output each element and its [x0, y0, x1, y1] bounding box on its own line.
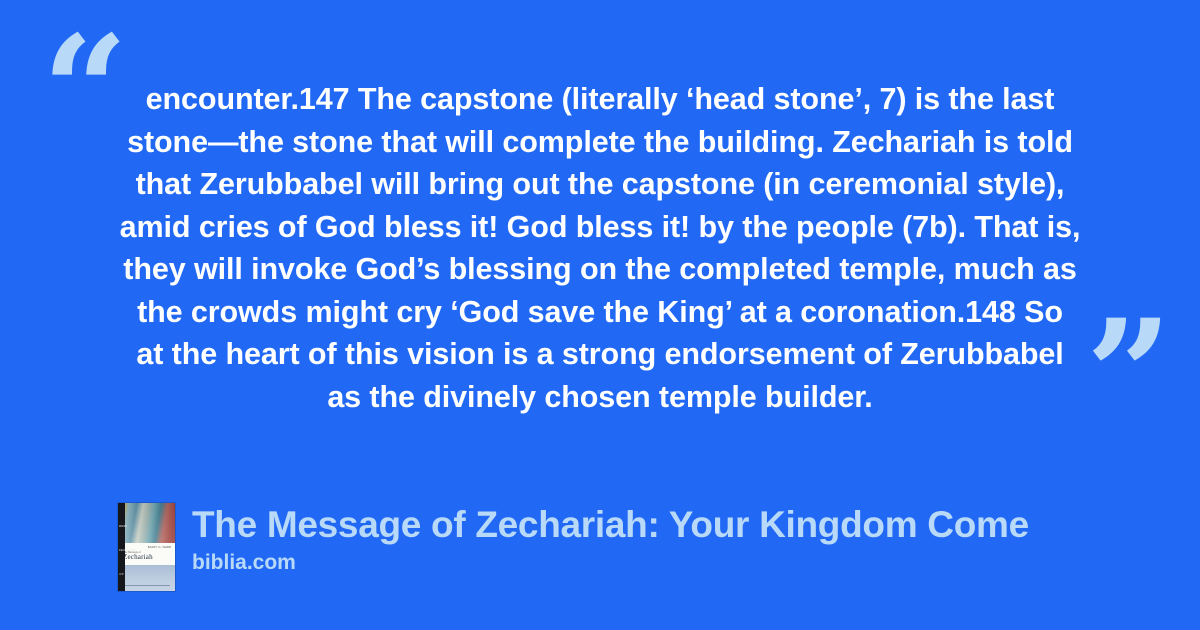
- cover-title-text: Zechariah: [123, 553, 153, 561]
- footer: BARRY G. WEBB The Message of Zechariah W…: [118, 503, 1029, 591]
- cover-artwork: [118, 503, 175, 543]
- cover-lower-panel: [118, 565, 175, 591]
- book-title: The Message of Zechariah: Your Kingdom C…: [192, 503, 1029, 547]
- site-name[interactable]: biblia.com: [192, 550, 1029, 576]
- quote-card: “ encounter.147 The capstone (literally …: [0, 0, 1200, 630]
- cover-title-band: BARRY G. WEBB The Message of Zechariah: [118, 543, 175, 565]
- quote-text: encounter.147 The capstone (literally ‘h…: [108, 78, 1092, 418]
- footer-text-column: The Message of Zechariah: Your Kingdom C…: [192, 503, 1029, 576]
- book-cover-thumbnail[interactable]: BARRY G. WEBB The Message of Zechariah W…: [118, 503, 175, 591]
- cover-author-text: BARRY G. WEBB: [148, 546, 171, 549]
- cover-spine: WEBB ZECHARIAH IVP: [118, 503, 125, 591]
- spine-text-title: ZECHARIAH: [119, 549, 124, 552]
- closing-quote-icon: ”: [1086, 300, 1172, 450]
- spine-text-author: WEBB: [119, 525, 124, 528]
- spine-text-publisher: IVP: [119, 573, 124, 576]
